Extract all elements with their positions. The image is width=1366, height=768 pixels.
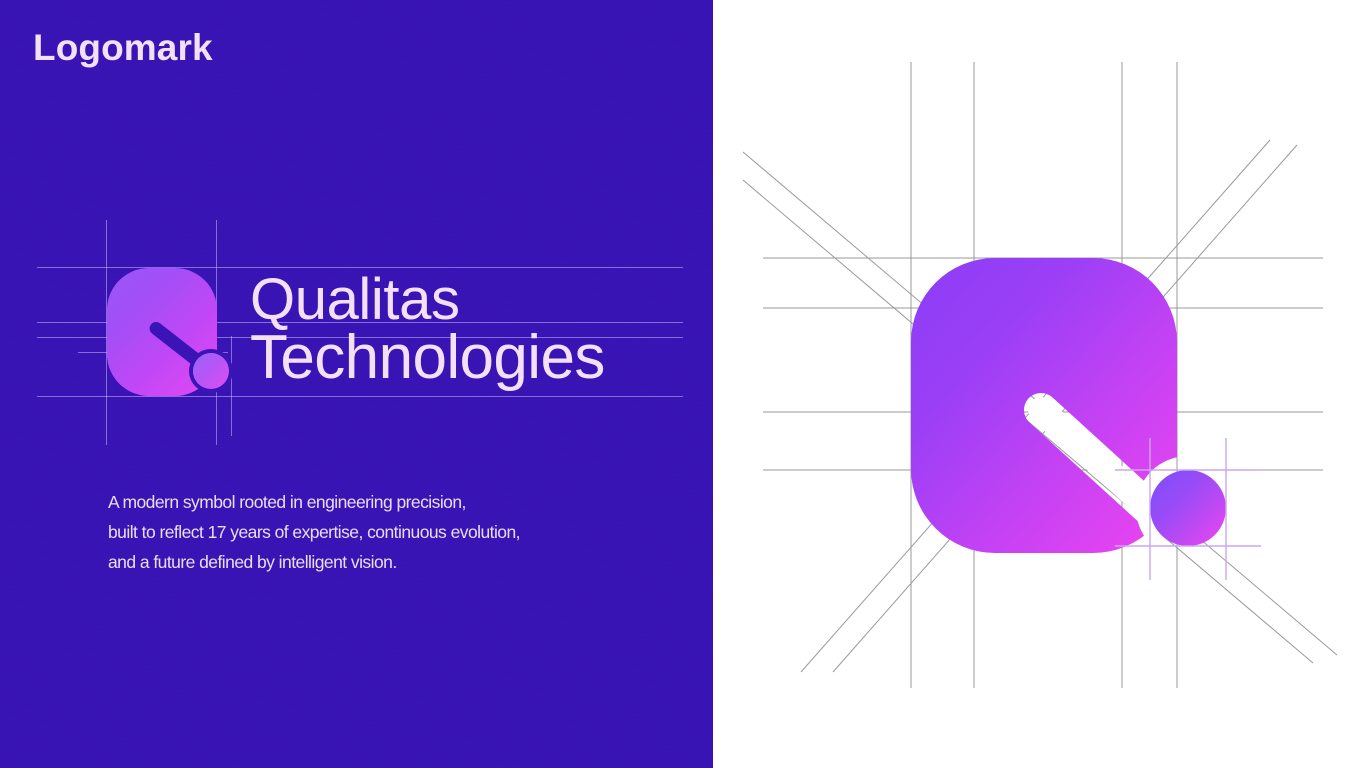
page-title: Logomark	[33, 28, 213, 69]
logo-circle-dot	[193, 353, 229, 389]
guide-horizontal-bottom	[37, 396, 683, 397]
wordmark-line-2: Technologies	[250, 328, 605, 388]
description-line-3: and a future defined by intelligent visi…	[108, 547, 668, 577]
description-paragraph: A modern symbol rooted in engineering pr…	[108, 487, 668, 577]
logo-mark-large	[713, 0, 1366, 768]
logo-large-circle	[1150, 470, 1226, 546]
wordmark: Qualitas Technologies	[250, 272, 605, 387]
description-line-2: built to reflect 17 years of expertise, …	[108, 517, 668, 547]
logo-mark-small	[107, 268, 217, 396]
logomark-presentation-slide: Logomark Qualitas Technologies A modern …	[0, 0, 1366, 768]
wordmark-line-1: Qualitas	[250, 272, 605, 328]
right-construction-panel	[713, 0, 1366, 768]
description-line-1: A modern symbol rooted in engineering pr…	[108, 487, 668, 517]
guide-vertical-short	[231, 336, 232, 436]
left-content-panel: Logomark Qualitas Technologies A modern …	[0, 0, 713, 768]
